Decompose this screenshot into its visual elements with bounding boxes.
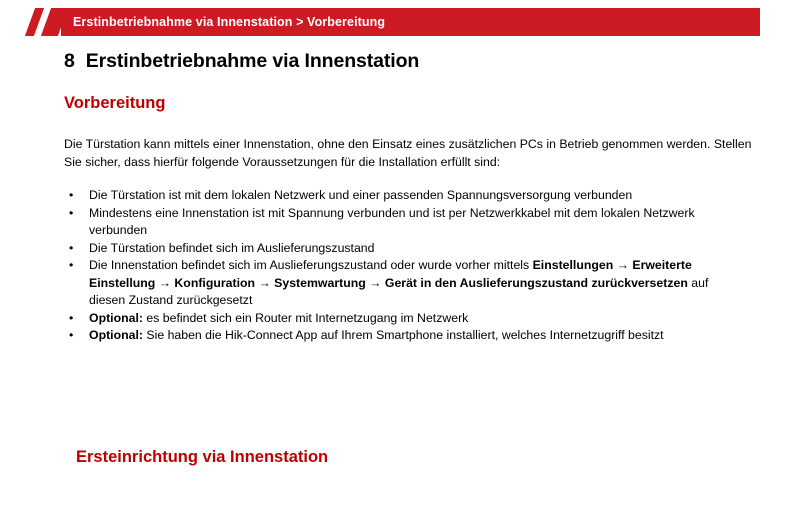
document-page: { "colors": { "banner_red": "#CC1B23", "… xyxy=(0,0,794,529)
text-run: Gerät in den Auslieferungszustand zurück… xyxy=(385,276,688,290)
text-run: Systemwartung xyxy=(274,276,366,290)
text-run: Mindestens eine Innenstation ist mit Spa… xyxy=(89,206,695,238)
arrow-icon: → xyxy=(613,258,632,272)
bullet-icon: • xyxy=(69,205,73,223)
arrow-icon: → xyxy=(255,276,274,290)
list-item-text: Die Türstation ist mit dem lokalen Netzw… xyxy=(89,187,746,205)
page-title: 8Erstinbetriebnahme via Innenstation xyxy=(0,36,794,73)
section-heading-vorbereitung: Vorbereitung xyxy=(0,73,794,113)
list-item-text: Optional: Sie haben die Hik-Connect App … xyxy=(89,327,746,345)
bullet-icon: • xyxy=(69,327,73,345)
bullet-icon: • xyxy=(69,240,73,258)
text-run: Konfiguration xyxy=(174,276,255,290)
list-item: •Optional: Sie haben die Hik-Connect App… xyxy=(0,327,746,345)
arrow-icon: → xyxy=(366,276,385,290)
list-item-text: Mindestens eine Innenstation ist mit Spa… xyxy=(89,205,746,240)
text-run: Einstellungen xyxy=(533,258,614,272)
text-run: Die Innenstation befindet sich im Auslie… xyxy=(89,258,533,272)
text-run: Optional: xyxy=(89,328,143,342)
page-content: 8Erstinbetriebnahme via Innenstation Vor… xyxy=(0,36,794,345)
list-item: •Die Innenstation befindet sich im Ausli… xyxy=(0,257,746,310)
breadcrumb-bar: Erstinbetriebnahme via Innenstation > Vo… xyxy=(61,8,760,36)
list-item-text: Die Türstation befindet sich im Ausliefe… xyxy=(89,240,746,258)
page-header-banner: Erstinbetriebnahme via Innenstation > Vo… xyxy=(0,8,794,36)
text-run: Die Türstation befindet sich im Ausliefe… xyxy=(89,241,375,255)
requirements-list: •Die Türstation ist mit dem lokalen Netz… xyxy=(0,171,794,345)
section-intro-paragraph: Die Türstation kann mittels einer Innens… xyxy=(0,113,794,171)
list-item-text: Optional: es befindet sich ein Router mi… xyxy=(89,310,746,328)
text-run: Die Türstation ist mit dem lokalen Netzw… xyxy=(89,188,632,202)
bullet-icon: • xyxy=(69,257,73,275)
chapter-title-text: Erstinbetriebnahme via Innenstation xyxy=(86,50,420,72)
chapter-number: 8 xyxy=(64,50,75,73)
list-item: •Optional: es befindet sich ein Router m… xyxy=(0,310,746,328)
list-item: •Die Türstation befindet sich im Auslief… xyxy=(0,240,746,258)
section-heading-ersteinrichtung: Ersteinrichtung via Innenstation xyxy=(76,448,328,467)
bullet-icon: • xyxy=(69,187,73,205)
bullet-icon: • xyxy=(69,310,73,328)
arrow-icon: → xyxy=(155,276,174,290)
text-run: Sie haben die Hik-Connect App auf Ihrem … xyxy=(143,328,664,342)
text-run: es befindet sich ein Router mit Internet… xyxy=(143,311,468,325)
list-item: •Die Türstation ist mit dem lokalen Netz… xyxy=(0,187,746,205)
breadcrumb: Erstinbetriebnahme via Innenstation > Vo… xyxy=(73,8,385,36)
text-run: Optional: xyxy=(89,311,143,325)
list-item: •Mindestens eine Innenstation ist mit Sp… xyxy=(0,205,746,240)
list-item-text: Die Innenstation befindet sich im Auslie… xyxy=(89,257,746,310)
